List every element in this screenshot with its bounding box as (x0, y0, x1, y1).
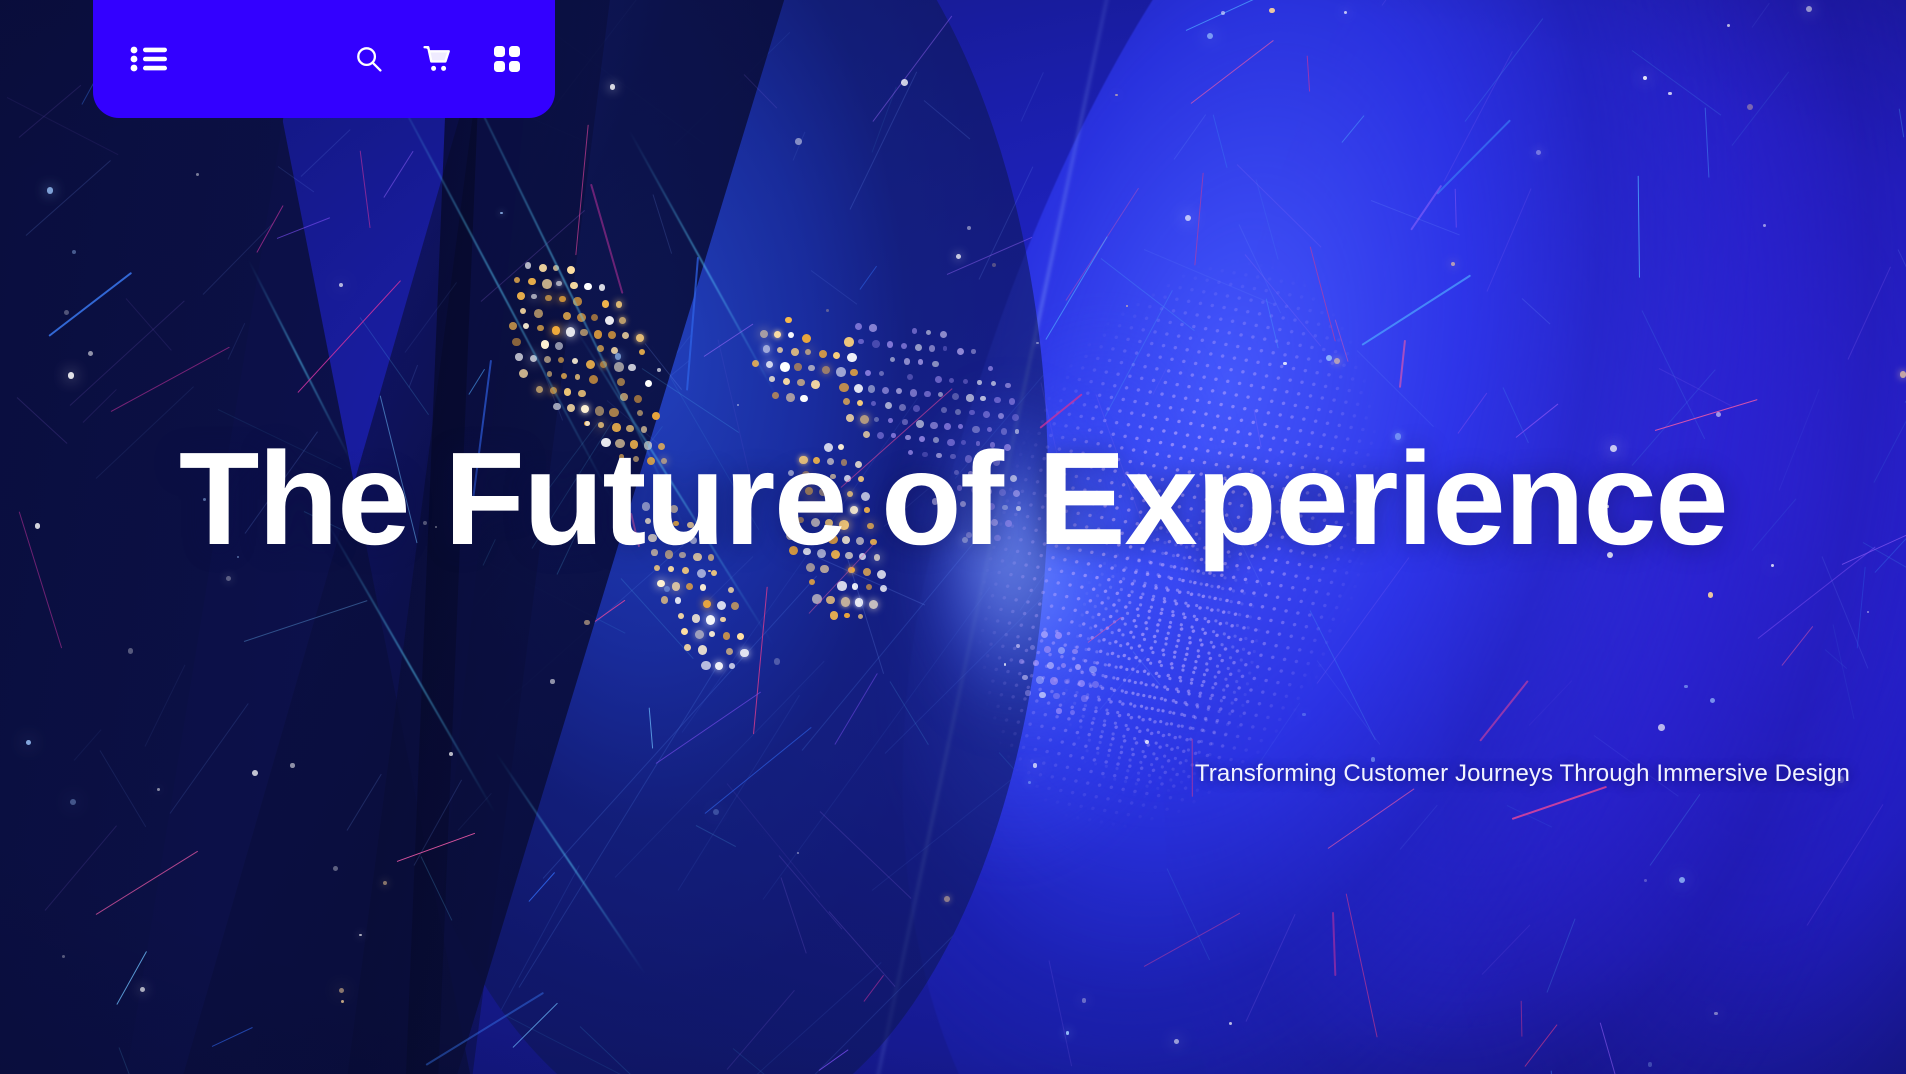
hero-page: The Future of Experience Transforming Cu… (0, 0, 1906, 1074)
search-icon[interactable] (355, 45, 383, 73)
list-icon[interactable] (129, 44, 169, 74)
navbar (93, 0, 555, 118)
page-subtitle: Transforming Customer Journeys Through I… (1195, 760, 1850, 788)
navbar-actions (355, 45, 521, 73)
grid-icon[interactable] (493, 45, 521, 73)
navbar-left-group (129, 44, 169, 74)
page-title: The Future of Experience (0, 432, 1906, 567)
shopping-cart-icon[interactable] (423, 45, 453, 73)
